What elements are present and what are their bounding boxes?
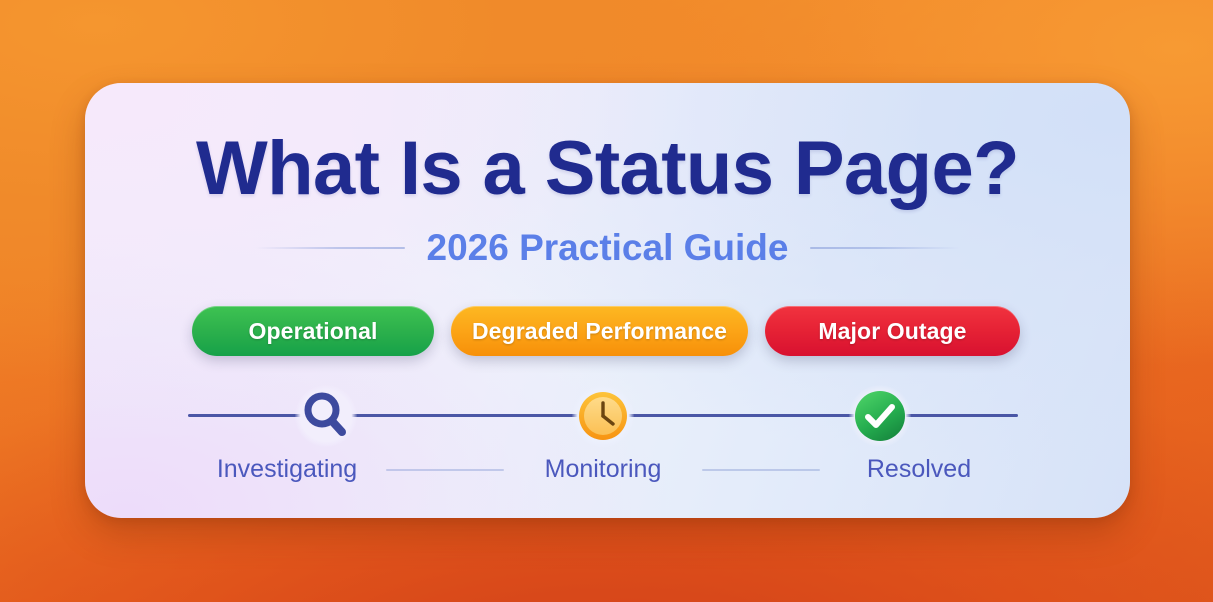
- status-pill-degraded-performance[interactable]: Degraded Performance: [451, 306, 748, 356]
- incident-timeline: Investigating Monitoring Resolved: [188, 383, 1018, 483]
- check-circle-icon: [854, 390, 906, 442]
- timeline-node-row: [188, 383, 1018, 449]
- timeline-label-investigating: Investigating: [188, 457, 386, 482]
- subtitle-rule-left: [255, 247, 405, 249]
- subtitle-row: 2026 Practical Guide: [85, 229, 1130, 266]
- timeline-node-monitoring[interactable]: [465, 391, 742, 441]
- timeline-label-resolved: Resolved: [820, 457, 1018, 482]
- clock-icon: [578, 391, 628, 441]
- page-subtitle: 2026 Practical Guide: [427, 229, 789, 266]
- timeline-label-rule-2: [702, 469, 820, 471]
- timeline-label-rule-1: [386, 469, 504, 471]
- info-card: What Is a Status Page? 2026 Practical Gu…: [85, 83, 1130, 518]
- status-pill-major-outage[interactable]: Major Outage: [765, 306, 1020, 356]
- timeline-node-investigating[interactable]: [188, 387, 465, 445]
- status-pill-operational[interactable]: Operational: [192, 306, 434, 356]
- status-pill-row: Operational Degraded Performance Major O…: [192, 306, 1020, 356]
- timeline-label-monitoring: Monitoring: [504, 457, 702, 482]
- page-title: What Is a Status Page?: [85, 131, 1130, 207]
- timeline-label-row: Investigating Monitoring Resolved: [188, 453, 1018, 485]
- timeline-node-resolved[interactable]: [741, 390, 1018, 442]
- magnifier-icon: [297, 387, 355, 445]
- subtitle-rule-right: [810, 247, 960, 249]
